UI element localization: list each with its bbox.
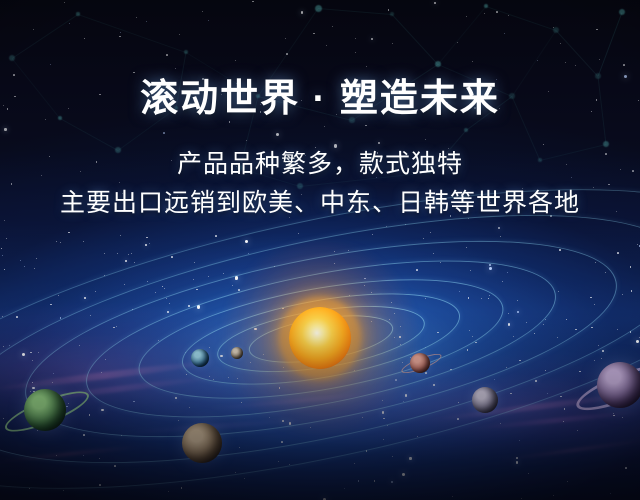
star [545, 370, 547, 372]
star [30, 391, 31, 392]
star [557, 337, 558, 338]
planet-pale-lavender-body [472, 387, 498, 413]
star [37, 430, 38, 431]
star [613, 415, 615, 417]
star [472, 336, 473, 337]
star [193, 279, 194, 280]
star [132, 309, 133, 310]
nebula-streak [430, 391, 639, 423]
star [534, 333, 536, 335]
star [502, 281, 503, 282]
star [2, 316, 3, 317]
star [507, 272, 508, 273]
star [32, 382, 34, 384]
star [545, 319, 546, 320]
star [553, 495, 554, 496]
star [392, 456, 393, 457]
star [566, 319, 568, 321]
star [366, 450, 368, 452]
star [386, 226, 387, 227]
star [510, 393, 512, 395]
star [615, 383, 616, 384]
star [440, 262, 441, 263]
star [79, 345, 80, 346]
star [99, 458, 100, 459]
star [38, 352, 39, 353]
star [433, 253, 434, 254]
star [506, 367, 507, 368]
star [433, 384, 435, 386]
star [468, 297, 470, 299]
star [9, 345, 10, 346]
star [167, 311, 169, 313]
star [116, 326, 117, 327]
star [133, 401, 135, 403]
star [535, 380, 537, 382]
star [567, 481, 568, 482]
star [83, 434, 85, 436]
star [594, 304, 595, 305]
nebula-streak [0, 444, 144, 463]
star [164, 288, 165, 289]
planet-green-ringed-body [24, 389, 66, 431]
star [489, 267, 492, 270]
star [145, 244, 147, 246]
star [508, 313, 509, 314]
star [101, 409, 103, 411]
star [613, 368, 615, 370]
star [232, 285, 233, 286]
star [134, 262, 135, 263]
star [209, 376, 210, 377]
star [517, 311, 519, 313]
star [114, 465, 116, 467]
star [278, 461, 279, 462]
star [469, 330, 470, 331]
star [383, 439, 384, 440]
star [387, 425, 388, 426]
star [500, 236, 501, 237]
planet-green-ringed-ring [1, 384, 93, 439]
star [622, 417, 623, 418]
nebula-streak [500, 438, 640, 462]
star [62, 410, 63, 411]
star [113, 327, 115, 329]
star [467, 349, 469, 351]
star [344, 488, 345, 489]
star [610, 493, 611, 494]
star [558, 291, 559, 292]
star [235, 472, 236, 473]
star [105, 359, 106, 360]
star [181, 487, 183, 489]
star [498, 227, 500, 229]
star [458, 402, 460, 404]
star [146, 237, 148, 239]
star [131, 253, 132, 254]
star [391, 481, 393, 483]
star [636, 340, 639, 343]
subtitle-line-1: 产品品种繁多，款式独特 [0, 122, 640, 183]
star [601, 358, 602, 359]
headline: 滚动世界 · 塑造未来 [0, 0, 640, 122]
star [175, 397, 177, 399]
star [50, 304, 52, 306]
star [32, 360, 33, 361]
star [425, 347, 426, 348]
star [416, 269, 418, 271]
star [124, 284, 125, 285]
star [60, 317, 62, 319]
star [516, 461, 518, 463]
star [149, 243, 150, 244]
star [209, 347, 210, 348]
planet-violet-ringed-body [597, 362, 640, 408]
planet-earth-blue-body [191, 349, 209, 367]
star [194, 262, 195, 263]
star [33, 391, 35, 393]
star [354, 463, 355, 464]
star [452, 496, 453, 497]
star [24, 266, 25, 267]
star [437, 332, 439, 334]
star [579, 371, 581, 373]
star [405, 394, 407, 396]
star [494, 379, 495, 380]
star [430, 232, 431, 233]
star [84, 297, 86, 299]
planet-violet-ringed-ring [571, 357, 640, 420]
nebula-streak [18, 374, 217, 404]
star [528, 473, 529, 474]
star [372, 234, 373, 235]
star [220, 355, 222, 357]
star [470, 270, 471, 271]
star [248, 253, 249, 254]
star [521, 498, 522, 499]
star [591, 327, 593, 329]
star [564, 408, 566, 410]
star [417, 436, 418, 437]
star [560, 396, 562, 398]
star [245, 240, 248, 243]
star [425, 372, 427, 374]
star [543, 324, 544, 325]
star [60, 242, 61, 243]
star [20, 260, 21, 261]
star [637, 244, 638, 245]
star [188, 305, 190, 307]
star [466, 247, 467, 248]
star [457, 418, 459, 420]
star [53, 373, 54, 374]
nebula-streak [0, 358, 220, 393]
star [168, 491, 169, 492]
star [169, 303, 170, 304]
star [2, 255, 3, 256]
star [52, 382, 53, 383]
star [158, 340, 159, 341]
star [598, 345, 599, 346]
star [22, 353, 25, 356]
star [382, 411, 384, 413]
star [6, 238, 7, 239]
star [68, 232, 70, 234]
star [298, 233, 299, 234]
star [489, 295, 490, 296]
star [374, 480, 376, 482]
star [223, 273, 224, 274]
star [409, 457, 411, 459]
star [215, 235, 217, 237]
star [3, 418, 4, 419]
star [488, 298, 490, 300]
star [519, 440, 520, 441]
star [575, 329, 577, 331]
star [402, 473, 405, 476]
star [208, 276, 209, 277]
star [29, 488, 31, 490]
star [120, 235, 121, 236]
star [605, 272, 606, 273]
star [186, 374, 188, 376]
star [58, 295, 59, 296]
star [30, 352, 32, 354]
star [622, 294, 623, 295]
star [459, 291, 460, 292]
star [189, 407, 190, 408]
star [625, 467, 627, 469]
star [125, 260, 127, 262]
star [289, 464, 290, 465]
star [403, 401, 404, 402]
star [83, 455, 84, 456]
star [48, 428, 49, 429]
star [104, 253, 105, 254]
star [526, 322, 527, 323]
star [241, 402, 243, 404]
subtitle-line-2: 主要出口远销到欧美、中东、日韩等世界各地 [0, 183, 640, 222]
star [117, 253, 118, 254]
star [162, 286, 164, 288]
star [16, 316, 18, 318]
star [68, 403, 69, 404]
star [196, 289, 198, 291]
star [595, 262, 596, 263]
star [83, 241, 84, 242]
star [213, 379, 214, 380]
star [639, 337, 640, 338]
star [513, 336, 514, 337]
star [66, 406, 68, 408]
star [34, 268, 35, 269]
star [281, 441, 283, 443]
star [199, 450, 201, 452]
star [228, 377, 229, 378]
star [101, 372, 102, 373]
star [425, 298, 426, 299]
banner-text: 滚动世界 · 塑造未来 产品品种繁多，款式独特 主要出口远销到欧美、中东、日韩等… [0, 0, 640, 222]
star [590, 297, 592, 299]
star [358, 480, 360, 482]
star [450, 369, 452, 371]
star [517, 300, 518, 301]
star [1, 248, 3, 250]
star [559, 249, 561, 251]
star [121, 435, 122, 436]
star [516, 457, 518, 459]
star [617, 252, 619, 254]
star [190, 456, 191, 457]
star [244, 478, 245, 479]
star [171, 256, 173, 258]
star [239, 447, 240, 448]
star [147, 281, 148, 282]
promo-banner: 滚动世界 · 塑造未来 产品品种繁多，款式独特 主要出口远销到欧美、中东、日韩等… [0, 0, 640, 500]
star [519, 360, 521, 362]
star [198, 361, 199, 362]
star [594, 360, 595, 361]
star [563, 421, 565, 423]
star [56, 241, 57, 242]
star [63, 490, 64, 491]
star [631, 290, 633, 292]
star [52, 415, 53, 416]
star [104, 275, 105, 276]
star [99, 484, 101, 486]
star [602, 350, 604, 352]
star [630, 266, 632, 268]
star [547, 393, 548, 394]
star [4, 269, 6, 271]
star [481, 298, 482, 299]
star [500, 423, 501, 424]
star [32, 387, 34, 389]
star [617, 329, 618, 330]
star [178, 420, 179, 421]
star [185, 352, 186, 353]
star [197, 305, 200, 308]
star [95, 291, 96, 292]
star [3, 346, 4, 347]
star [235, 276, 238, 279]
star [155, 292, 156, 293]
star [89, 414, 91, 416]
star [613, 413, 614, 414]
star [577, 430, 578, 431]
sun-core [289, 307, 351, 369]
star [56, 455, 57, 456]
star [475, 342, 477, 344]
star [36, 258, 37, 259]
nebula-streak [470, 410, 640, 432]
star [166, 298, 167, 299]
star [423, 238, 424, 239]
star [508, 323, 510, 325]
star [489, 264, 491, 266]
star [235, 279, 236, 280]
star [128, 254, 129, 255]
planet-tan-banded-body [182, 423, 222, 463]
star [383, 418, 385, 420]
star [630, 331, 632, 333]
star [90, 315, 91, 316]
star [405, 224, 406, 225]
